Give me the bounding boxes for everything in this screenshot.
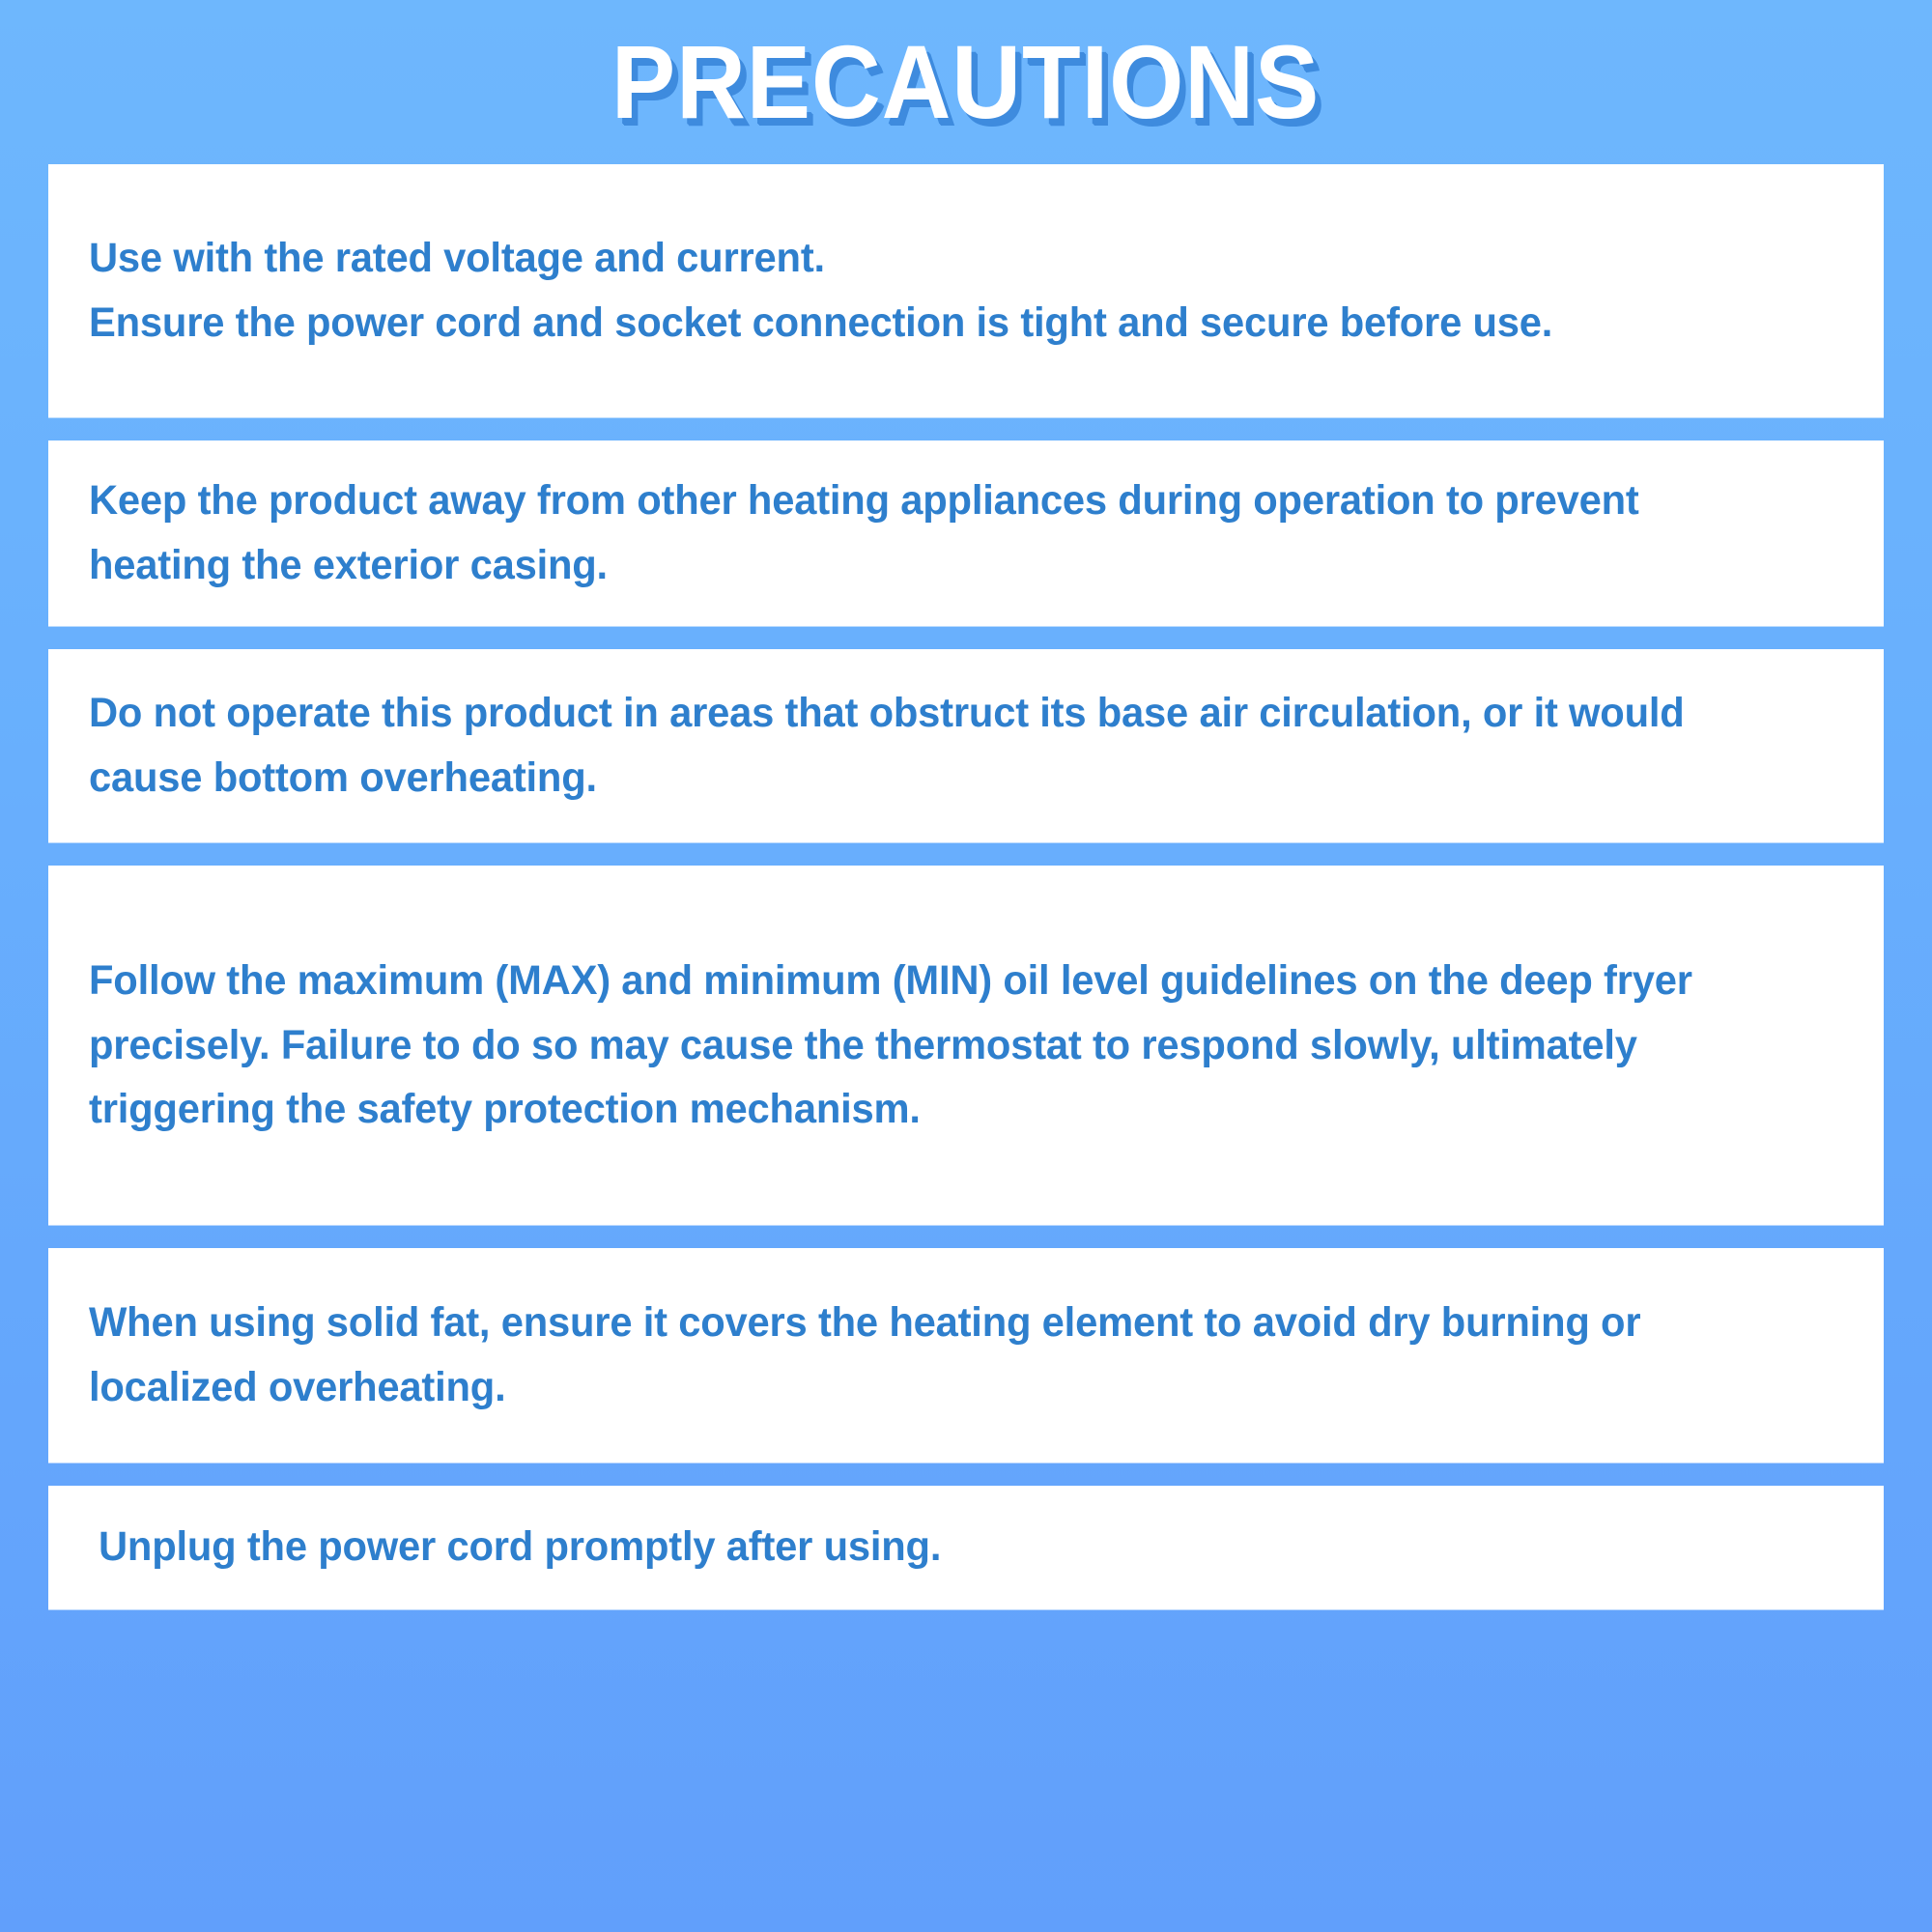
precaution-card: When using solid fat, ensure it covers t… (48, 1248, 1884, 1463)
precaution-card: Keep the product away from other heating… (48, 440, 1884, 626)
precaution-text: Follow the maximum (MAX) and minimum (MI… (89, 949, 1787, 1142)
page-title-container: PRECAUTIONS (0, 0, 1932, 164)
precautions-poster: PRECAUTIONS Use with the rated voltage a… (0, 0, 1932, 1932)
precaution-card: Unplug the power cord promptly after usi… (48, 1486, 1884, 1609)
precaution-text: Keep the product away from other heating… (89, 469, 1787, 597)
precaution-text: Do not operate this product in areas tha… (89, 681, 1787, 810)
precaution-text: Use with the rated voltage and current. … (89, 226, 1787, 355)
precaution-card: Use with the rated voltage and current. … (48, 164, 1884, 417)
precaution-card: Follow the maximum (MAX) and minimum (MI… (48, 866, 1884, 1225)
precaution-card: Do not operate this product in areas tha… (48, 649, 1884, 842)
precaution-text: Unplug the power cord promptly after usi… (99, 1522, 1787, 1573)
precaution-card-list: Use with the rated voltage and current. … (0, 164, 1932, 1932)
precaution-text: When using solid fat, ensure it covers t… (89, 1291, 1787, 1419)
page-title: PRECAUTIONS (611, 30, 1320, 134)
